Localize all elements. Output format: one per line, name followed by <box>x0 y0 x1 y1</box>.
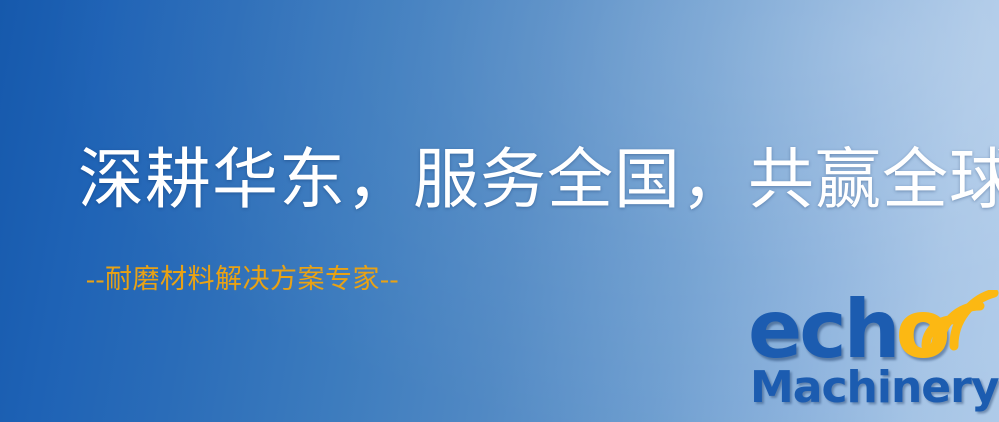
banner-subtitle: --耐磨材料解决方案专家-- <box>86 266 399 293</box>
logo-tagline: Machinery® <box>750 366 999 410</box>
company-logo[interactable]: ech o Machinery® <box>744 292 999 422</box>
echo-wave-icon <box>920 290 999 352</box>
hero-banner: 深耕华东，服务全国，共赢全球 --耐磨材料解决方案专家-- ech o Mach… <box>0 0 999 422</box>
banner-headline: 深耕华东，服务全国，共赢全球 <box>78 148 999 214</box>
logo-text-ech: ech <box>748 292 898 368</box>
logo-tagline-text: Machinery <box>750 362 999 413</box>
logo-wordmark: ech o <box>748 292 949 370</box>
